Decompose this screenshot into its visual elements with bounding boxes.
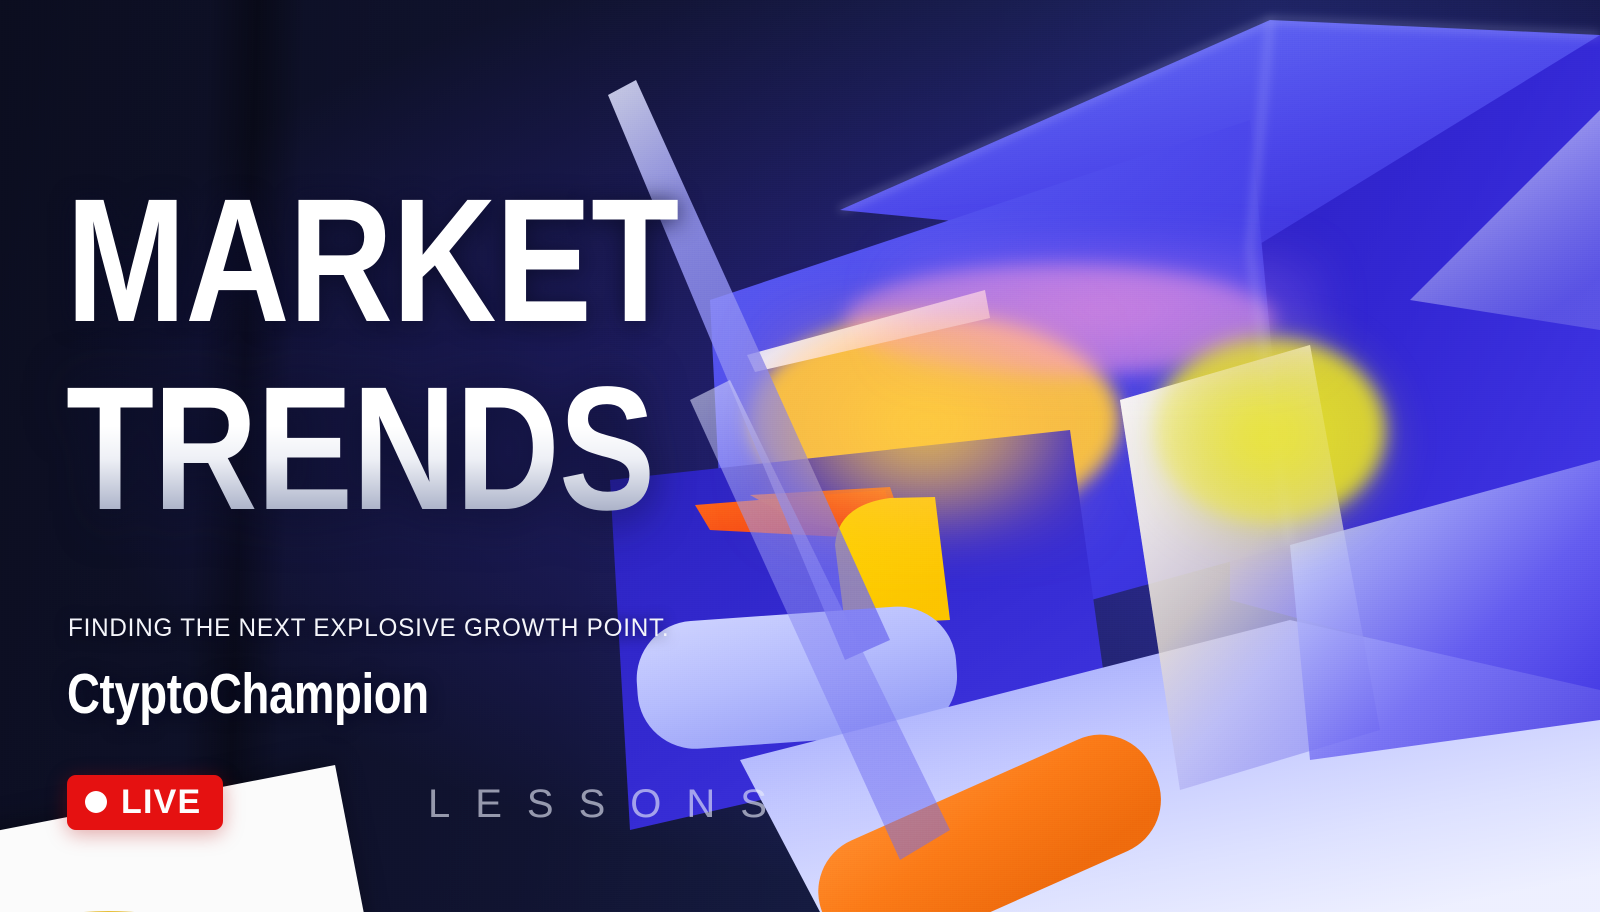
brand-name: CtyptoChampion: [67, 666, 429, 723]
thumbnail-canvas: MARKET TRENDS FINDING THE NEXT EXPLOSIVE…: [0, 0, 1600, 912]
subtitle-tagline: FINDING THE NEXT EXPLOSIVE GROWTH POINT.: [68, 614, 669, 643]
live-badge[interactable]: LIVE: [67, 775, 223, 830]
headline-line-2: TRENDS: [66, 376, 654, 524]
record-dot-icon: [85, 791, 107, 813]
headline-line-1: MARKET: [66, 188, 678, 336]
lessons-watermark: LESSONS: [428, 782, 792, 827]
live-badge-label: LIVE: [121, 785, 201, 819]
